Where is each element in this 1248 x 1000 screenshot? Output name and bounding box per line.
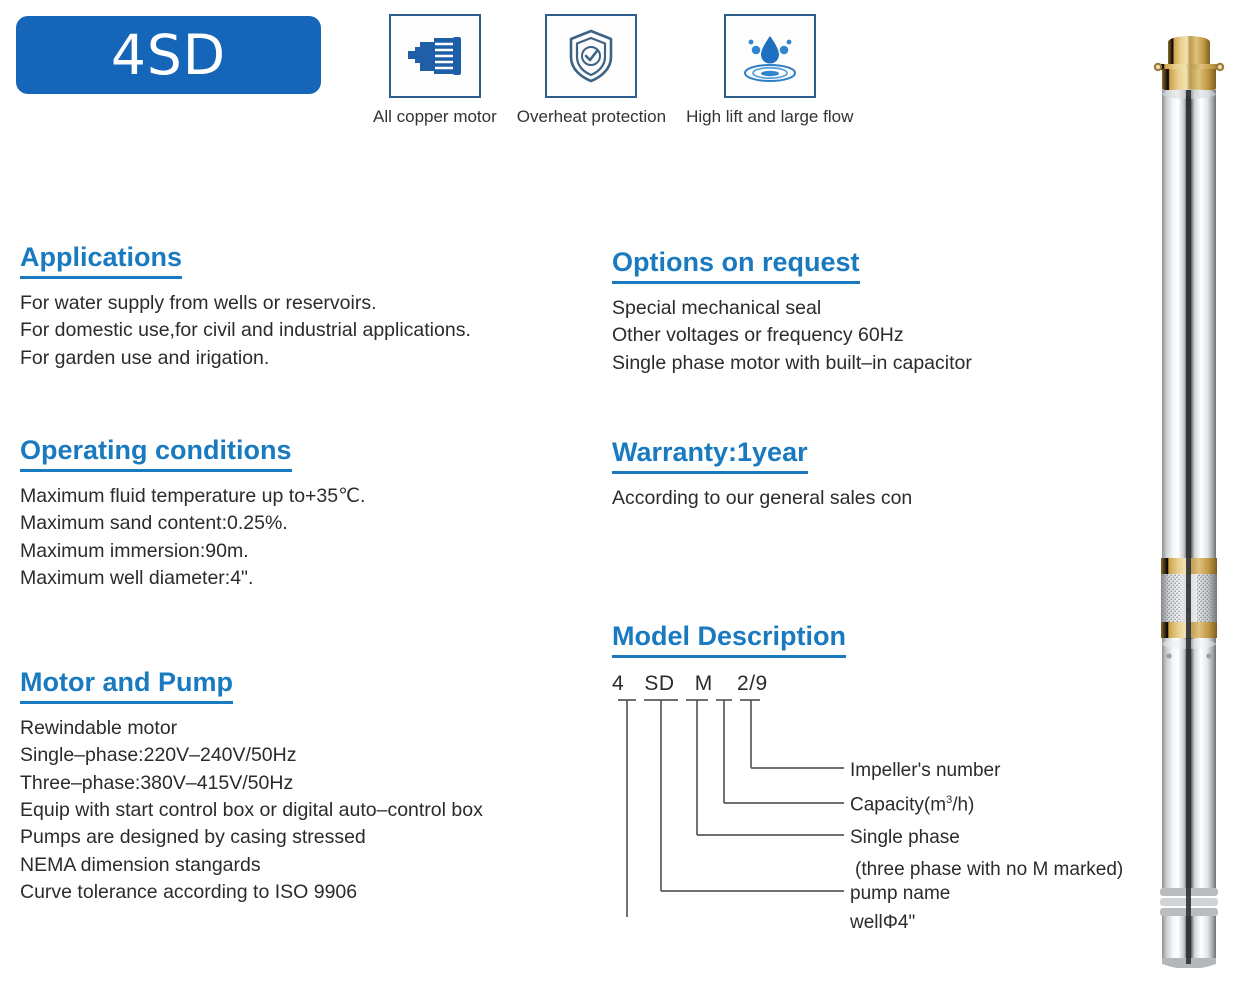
- leader-label-impellers-number: Impeller's number: [850, 761, 1000, 780]
- leader-label-single-phase: Single phase: [850, 828, 960, 847]
- pump-illustration: [1136, 28, 1242, 968]
- section-heading: Applications: [20, 243, 182, 279]
- body-line: Maximum fluid temperature up to+35℃.: [20, 483, 365, 510]
- product-model-label: 4SD: [111, 28, 226, 83]
- leader-label-pump-name: pump name: [850, 884, 950, 903]
- body-line: Maximum immersion:90m.: [20, 538, 365, 565]
- body-line: Rewindable motor: [20, 715, 483, 742]
- feature-icon-box: [389, 14, 481, 98]
- section-heading: Model Description: [612, 622, 846, 658]
- feature-all-copper-motor: All copper motor: [363, 14, 507, 127]
- section-heading: Motor and Pump: [20, 668, 233, 704]
- electric-motor-icon: [404, 31, 466, 81]
- body-line: Maximum well diameter:4".: [20, 565, 365, 592]
- section-body: According to our general sales con: [612, 485, 912, 512]
- leader-label-capacity: Capacity(m3/h): [850, 795, 974, 814]
- body-line: According to our general sales con: [612, 485, 912, 512]
- feature-label: All copper motor: [373, 107, 497, 127]
- body-line: For garden use and irigation.: [20, 345, 471, 372]
- body-line: NEMA dimension stangards: [20, 852, 483, 879]
- body-line: Maximum sand content:0.25%.: [20, 510, 365, 537]
- body-line: Single–phase:220V–240V/50Hz: [20, 742, 483, 769]
- section-applications: Applications For water supply from wells…: [20, 243, 471, 372]
- section-options-on-request: Options on request Special mechanical se…: [612, 248, 972, 377]
- body-line: For water supply from wells or reservoir…: [20, 290, 471, 317]
- body-line: Other voltages or frequency 60Hz: [612, 322, 972, 349]
- feature-overheat-protection: Overheat protection: [507, 14, 676, 127]
- feature-icon-box: [545, 14, 637, 98]
- feature-high-lift-large-flow: High lift and large flow: [676, 14, 863, 127]
- section-heading: Warranty:1year: [612, 438, 808, 474]
- body-line: For domestic use,for civil and industria…: [20, 317, 471, 344]
- body-line: Three–phase:380V–415V/50Hz: [20, 770, 483, 797]
- body-line: Equip with start control box or digital …: [20, 797, 483, 824]
- capacity-base: Capacity(m: [850, 794, 946, 815]
- section-body: Maximum fluid temperature up to+35℃. Max…: [20, 483, 365, 592]
- feature-label: High lift and large flow: [686, 107, 853, 127]
- product-model-badge: 4SD: [16, 16, 321, 94]
- section-model-description: Model Description 4 SD M 2/9: [612, 622, 1192, 917]
- body-line: Pumps are designed by casing stressed: [20, 824, 483, 851]
- model-code-diagram: 4 SD M 2/9: [612, 672, 1192, 917]
- section-heading: Options on request: [612, 248, 860, 284]
- body-line: Special mechanical seal: [612, 295, 972, 322]
- body-line: Single phase motor with built–in capacit…: [612, 350, 972, 377]
- feature-label: Overheat protection: [517, 107, 666, 127]
- feature-highlights: All copper motor Overheat protection: [363, 14, 863, 127]
- section-heading: Operating conditions: [20, 436, 292, 472]
- section-motor-and-pump: Motor and Pump Rewindable motor Single–p…: [20, 668, 483, 906]
- leader-label-three-phase-note: (three phase with no M marked): [855, 860, 1123, 879]
- leader-label-well-diameter: wellΦ4": [850, 913, 915, 932]
- section-warranty: Warranty:1year According to our general …: [612, 438, 912, 512]
- section-operating-conditions: Operating conditions Maximum fluid tempe…: [20, 436, 365, 592]
- capacity-tail: /h): [952, 794, 974, 815]
- body-line: Curve tolerance according to ISO 9906: [20, 879, 483, 906]
- section-body: For water supply from wells or reservoir…: [20, 290, 471, 372]
- section-body: Special mechanical seal Other voltages o…: [612, 295, 972, 377]
- feature-icon-box: [724, 14, 816, 98]
- water-drop-ripple-icon: [737, 28, 803, 84]
- shield-check-icon: [565, 27, 617, 85]
- section-body: Rewindable motor Single–phase:220V–240V/…: [20, 715, 483, 906]
- submersible-pump-image: [1136, 28, 1242, 968]
